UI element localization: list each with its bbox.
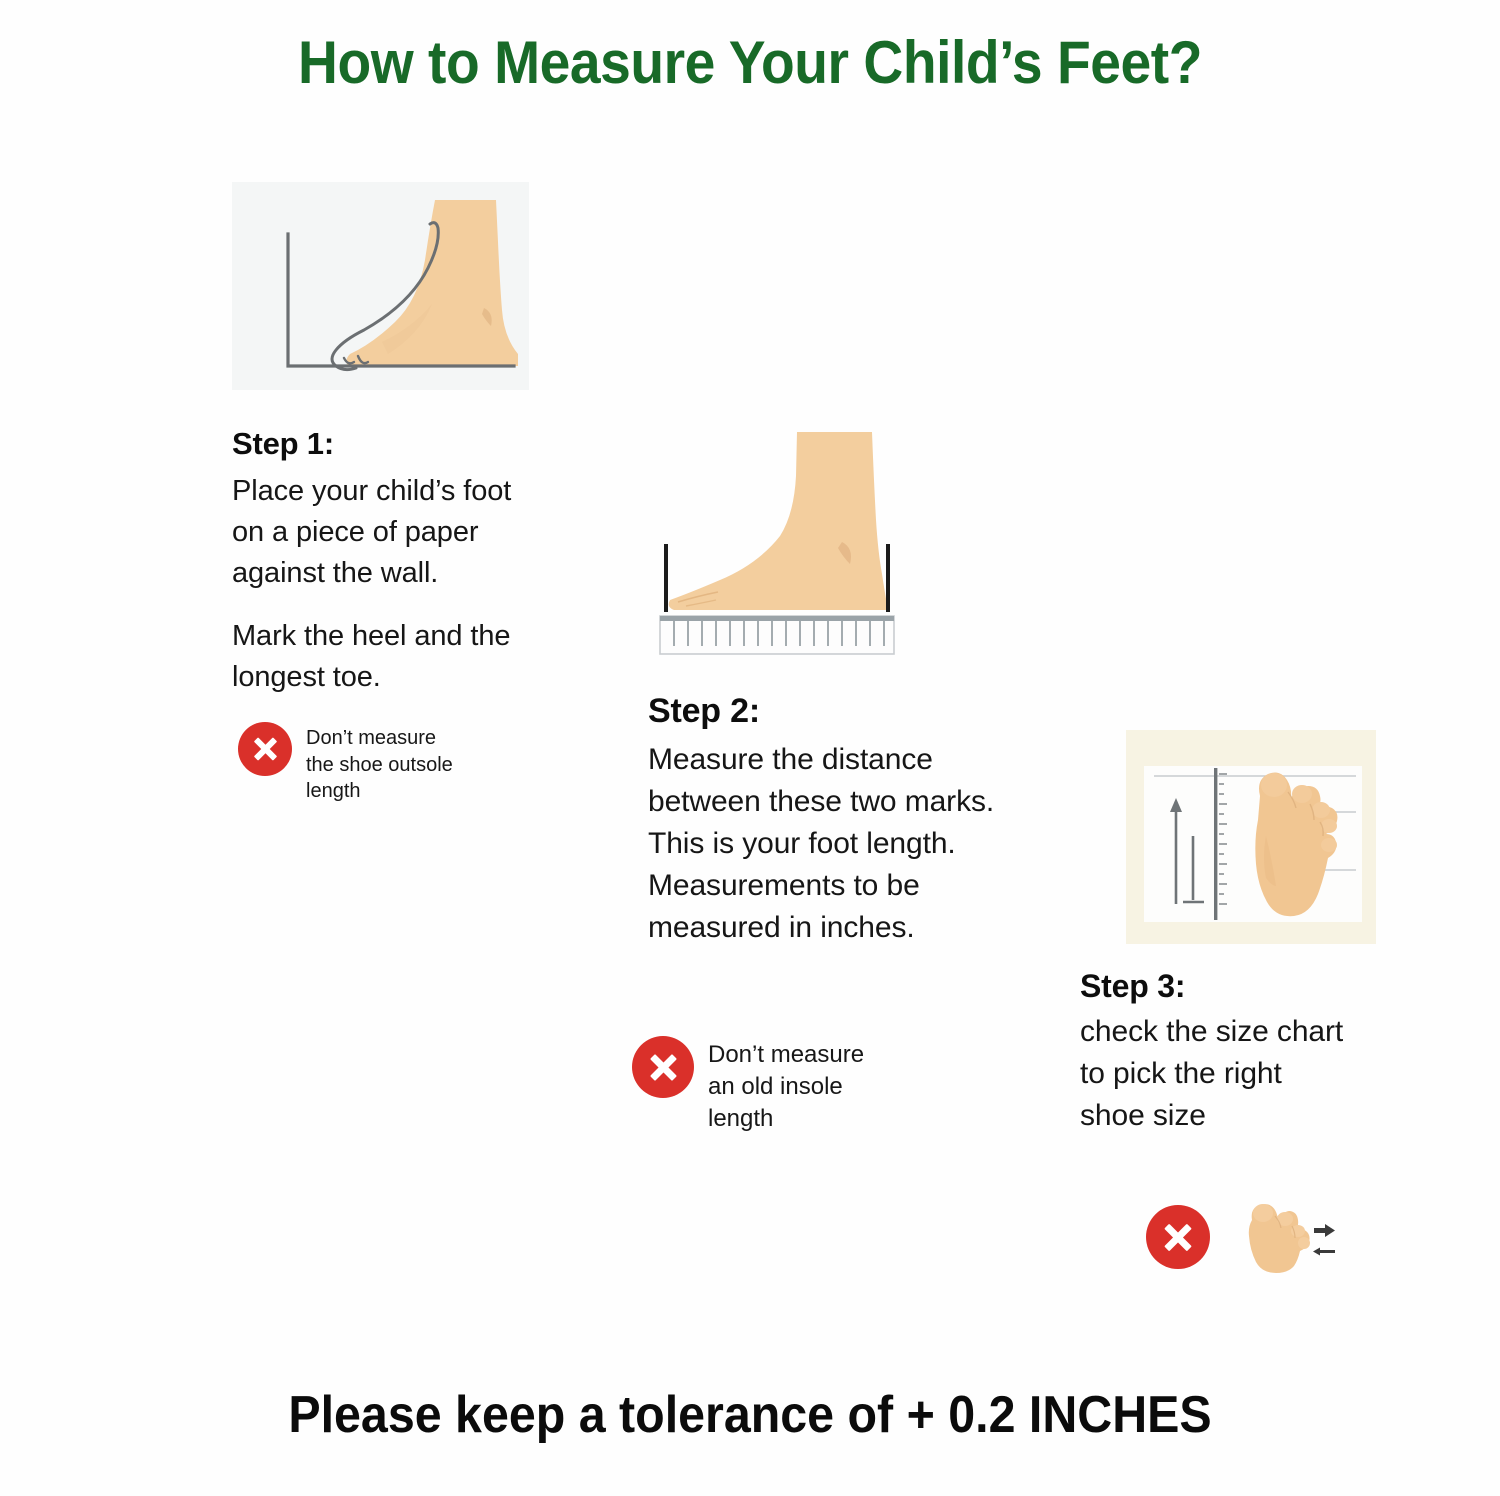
step-3-block: Step 3: check the size chart to pick the… [1080,728,1440,1137]
foot-on-ruler-side-view-icon [648,424,933,664]
step-2-body: Measure the distance between these two m… [648,739,1088,949]
step-1-body-line: Place your child’s foot [232,471,562,512]
step-2-heading: Step 2: [648,692,1088,731]
step-2-body-line: measured in inches. [648,907,1088,949]
step-1-block: Step 1: Place your child’s foot on a pie… [232,182,562,698]
warning-line: length [306,778,453,805]
step-2-body-line: This is your foot length. [648,823,1088,865]
warning-line: an old insole [708,1071,864,1103]
step-1-heading: Step 1: [232,426,562,462]
warning-badge-2: Don’t measure an old insole length [632,1036,864,1135]
step-2-block: Step 2: Measure the distance between the… [648,424,1088,949]
tolerance-note: Please keep a tolerance of + 0.2 INCHES [53,1385,1448,1445]
warning-badge-1: Don’t measure the shoe outsole length [238,722,453,805]
step-1-body-line: Mark the heel and the [232,616,562,657]
warning-badge-2-text: Don’t measure an old insole length [708,1039,864,1135]
step-2-illustration-panel [648,424,933,664]
red-cross-circle-icon [238,722,292,776]
step-2-body-line: Measure the distance [648,739,1088,781]
step-1-illustration-panel [232,182,529,390]
step-1-body-line: longest toe. [232,657,562,698]
warning-badge-3 [1146,1200,1336,1274]
step-3-body-line: shoe size [1080,1095,1440,1137]
step-1-body: Place your child’s foot on a piece of pa… [232,471,562,698]
warning-line: length [708,1103,864,1135]
step-3-heading: Step 3: [1080,968,1440,1005]
step-1-body-line: against the wall. [232,553,562,594]
foot-against-wall-side-view-icon [232,182,529,390]
infographic-canvas: How to Measure Your Child’s Feet? [0,0,1500,1496]
step-3-body-line: to pick the right [1080,1053,1440,1095]
red-cross-circle-icon [632,1036,694,1098]
page-title: How to Measure Your Child’s Feet? [60,28,1440,97]
step-1-body-line: on a piece of paper [232,512,562,553]
footprint-on-size-chart-icon [1080,728,1400,946]
step-2-body-line: between these two marks. [648,781,1088,823]
step-3-illustration-panel [1080,728,1400,946]
step-3-body-line: check the size chart [1080,1011,1440,1053]
warning-line: the shoe outsole [306,752,453,779]
footprint-with-arrows-icon [1226,1200,1336,1274]
step-2-body-line: Measurements to be [648,865,1088,907]
warning-badge-1-text: Don’t measure the shoe outsole length [306,725,453,805]
red-cross-circle-icon [1146,1205,1210,1269]
warning-line: Don’t measure [708,1039,864,1071]
warning-line: Don’t measure [306,725,453,752]
step-3-body: check the size chart to pick the right s… [1080,1011,1440,1137]
